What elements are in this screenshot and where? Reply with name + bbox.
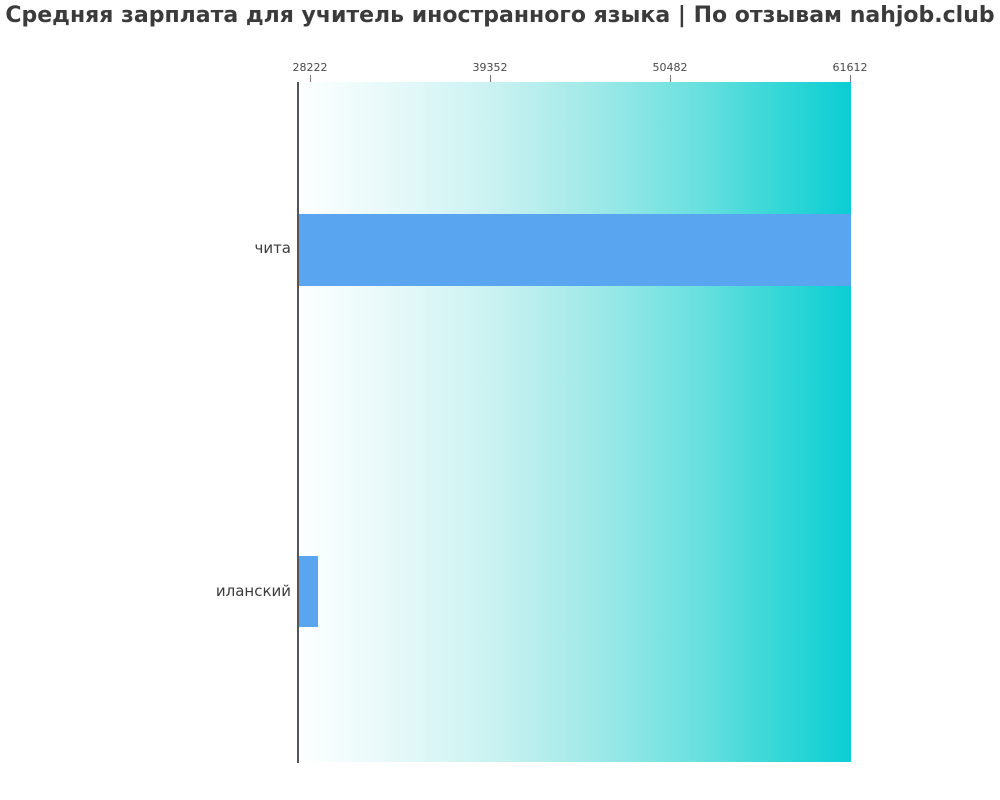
x-axis-tick-mark bbox=[310, 75, 311, 82]
y-axis-tick-label: чита bbox=[254, 239, 291, 257]
plot-area bbox=[299, 82, 851, 762]
x-axis-tick-mark bbox=[670, 75, 671, 82]
page-title: Средняя зарплата для учитель иностранног… bbox=[5, 3, 994, 28]
y-axis-tick-label: иланский bbox=[216, 582, 291, 600]
x-axis-tick-label: 50482 bbox=[653, 61, 688, 74]
bar[interactable] bbox=[299, 556, 318, 627]
chart-title-container: Средняя зарплата для учитель иностранног… bbox=[0, 0, 1000, 38]
x-axis-tick-label: 61612 bbox=[833, 61, 868, 74]
x-axis-tick-label: 28222 bbox=[293, 61, 328, 74]
x-axis-tick-mark bbox=[490, 75, 491, 82]
chart-root: Средняя зарплата для учитель иностранног… bbox=[0, 0, 1000, 800]
y-axis-spine bbox=[297, 82, 299, 763]
x-axis-tick-mark bbox=[850, 75, 851, 82]
x-axis-tick-label: 39352 bbox=[473, 61, 508, 74]
bar[interactable] bbox=[299, 214, 851, 286]
